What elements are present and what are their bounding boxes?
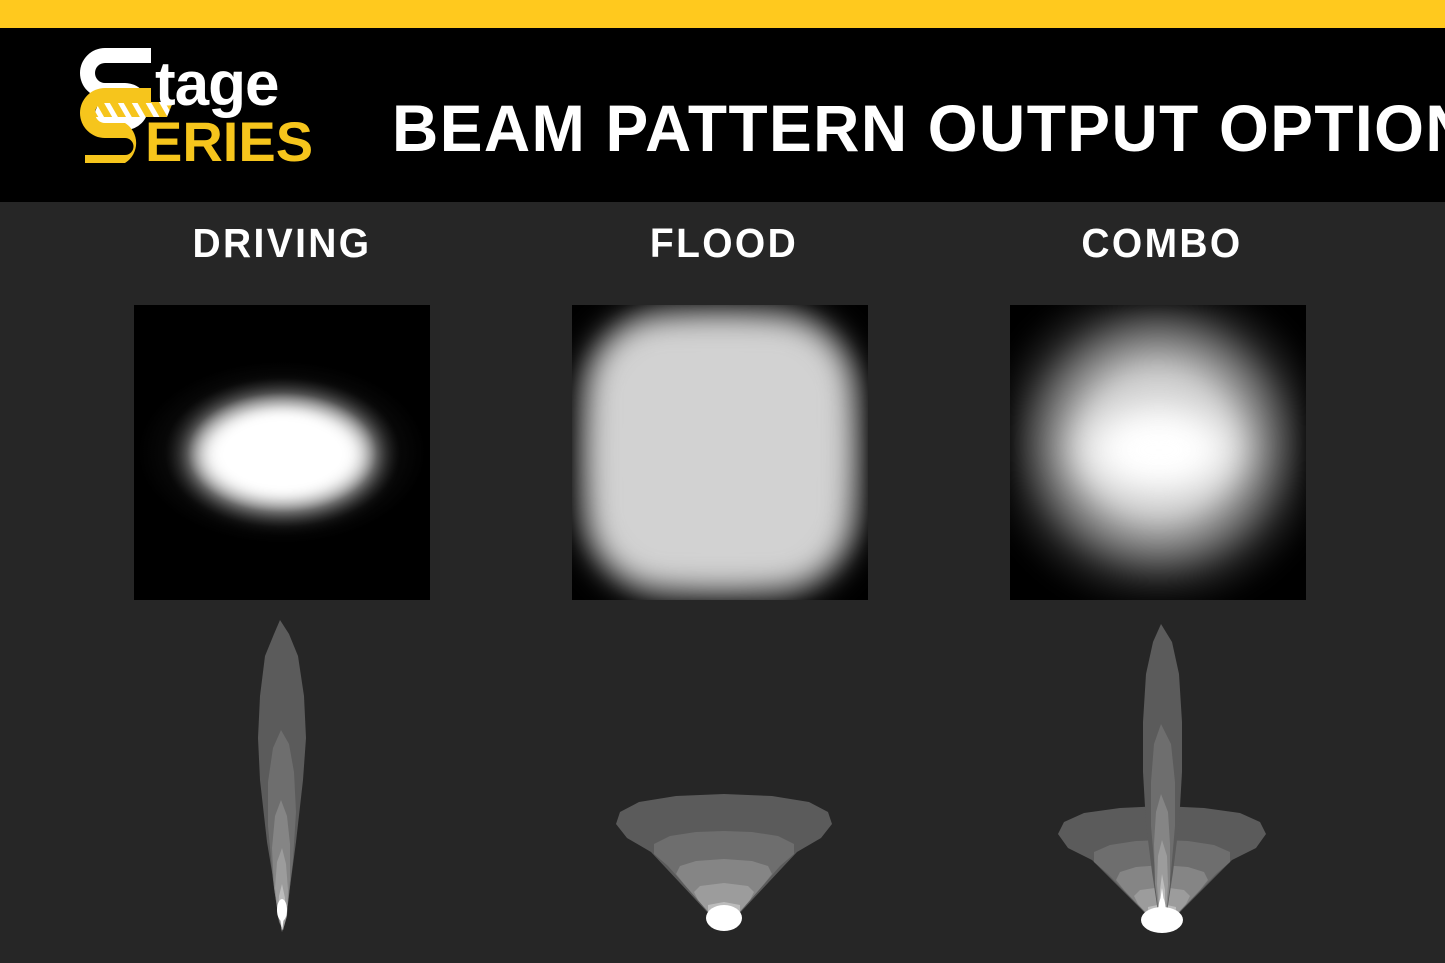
combo-hotspot [1054,389,1264,511]
page-title: BEAM PATTERN OUTPUT OPTIONS [392,92,1391,172]
beam-pattern-infographic: tage ERIES BEAM PATTERN OUTPUT OPTIONS D… [0,0,1445,963]
logo-text-eries: ERIES [145,110,313,164]
beam-option-label-combo: COMBO [953,220,1371,267]
driving-hotspot [194,403,372,507]
beam-option-flood: FLOOD [504,202,944,963]
driving-beam-pattern-swatch [134,305,430,600]
combo-beam-pattern-swatch [1010,305,1306,600]
flood-beam-layers [616,794,832,931]
combo-beam-layers [1058,624,1266,933]
top-accent-bar [0,0,1445,28]
flood-beam-projection-diagram [504,612,944,952]
beam-option-driving: DRIVING [62,202,502,963]
flood-field [586,315,854,590]
beam-option-combo: COMBO [942,202,1382,963]
stage-series-logo: tage ERIES [55,42,315,164]
beam-options-grid: DRIVING [0,202,1445,963]
beam-option-label-driving: DRIVING [73,220,491,267]
beam-option-label-flood: FLOOD [515,220,933,267]
logo-letter-s-yellow [80,88,151,163]
logo-text-tage: tage [155,50,278,119]
driving-beam-projection-diagram [62,612,502,952]
driving-beam-layers [258,620,306,932]
combo-beam-projection-diagram [942,612,1382,952]
flood-beam-pattern-swatch [572,305,868,600]
